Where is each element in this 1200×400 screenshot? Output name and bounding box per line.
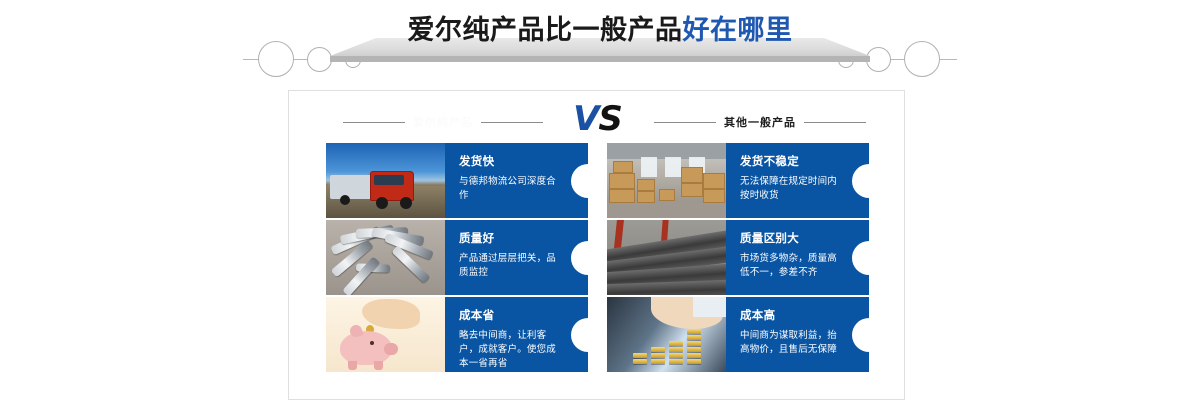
comparison-columns: 发货快 与德邦物流公司深度合作 xyxy=(289,143,906,372)
vs-letter-s: S xyxy=(598,99,622,139)
right-label-text: 其他一般产品 xyxy=(724,114,796,130)
card-title: 成本高 xyxy=(740,308,843,322)
left-label-rule-start xyxy=(343,122,405,123)
list-item[interactable]: 发货不稳定 无法保障在规定时间内按时收货 xyxy=(607,143,869,218)
title-banner-base xyxy=(330,56,870,62)
left-label-text: 爱尔纯产品 xyxy=(413,114,473,130)
card-body: 发货不稳定 无法保障在规定时间内按时收货 xyxy=(726,143,869,218)
red-truck-highway-photo xyxy=(326,143,445,218)
page-title-main: 爱尔纯产品比一般产品 xyxy=(408,15,683,46)
card-description: 无法保障在规定时间内按时收货 xyxy=(740,175,843,203)
right-label-rule-end xyxy=(804,122,866,123)
list-item[interactable]: 成本高 中间商为谋取利益，抬高物价，且售后无保障 xyxy=(607,297,869,372)
card-description: 与德邦物流公司深度合作 xyxy=(459,175,562,203)
page-header: 爱尔纯产品比一般产品好在哪里 xyxy=(0,0,1200,82)
card-title: 成本省 xyxy=(459,308,562,322)
list-item[interactable]: 成本省 略去中间商，让利客户，成就客户。使您成本一省再省 xyxy=(326,297,588,372)
card-title: 发货快 xyxy=(459,154,562,168)
card-description: 略去中间商，让利客户，成就客户。使您成本一省再省 xyxy=(459,329,562,371)
card-body: 质量区别大 市场货多物杂，质量高低不一，参差不齐 xyxy=(726,220,869,295)
vs-letter-v: V xyxy=(573,99,598,139)
card-body: 发货快 与德邦物流公司深度合作 xyxy=(445,143,588,218)
card-body: 质量好 产品通过层层把关，品质监控 xyxy=(445,220,588,295)
stacked-pipes-photo xyxy=(607,220,726,295)
page-title-accent: 好在哪里 xyxy=(683,15,793,46)
card-title: 质量好 xyxy=(459,231,562,245)
right-side-label: 其他一般产品 xyxy=(654,113,866,131)
header-circle-left-2 xyxy=(307,47,332,72)
right-column: 发货不稳定 无法保障在规定时间内按时收货 质量区别大 xyxy=(607,143,869,372)
card-body: 成本高 中间商为谋取利益，抬高物价，且售后无保障 xyxy=(726,297,869,372)
gold-coin-stacks-photo xyxy=(607,297,726,372)
card-title: 质量区别大 xyxy=(740,231,843,245)
left-label-rule-end xyxy=(481,122,543,123)
card-description: 中间商为谋取利益，抬高物价，且售后无保障 xyxy=(740,329,843,357)
list-item[interactable]: 质量区别大 市场货多物杂，质量高低不一，参差不齐 xyxy=(607,220,869,295)
list-item[interactable]: 质量好 产品通过层层把关，品质监控 xyxy=(326,220,588,295)
piggy-bank-coin-photo xyxy=(326,297,445,372)
left-column: 发货快 与德邦物流公司深度合作 xyxy=(326,143,588,372)
vs-badge: VS xyxy=(573,99,622,139)
comparison-panel: 爱尔纯产品 VS 其他一般产品 xyxy=(288,90,905,400)
card-description: 产品通过层层把关，品质监控 xyxy=(459,252,562,280)
vs-header-row: 爱尔纯产品 VS 其他一般产品 xyxy=(289,97,906,143)
card-description: 市场货多物杂，质量高低不一，参差不齐 xyxy=(740,252,843,280)
steel-tubes-photo xyxy=(326,220,445,295)
card-body: 成本省 略去中间商，让利客户，成就客户。使您成本一省再省 xyxy=(445,297,588,372)
right-label-rule-start xyxy=(654,122,716,123)
page-title: 爱尔纯产品比一般产品好在哪里 xyxy=(0,8,1200,47)
card-title: 发货不稳定 xyxy=(740,154,843,168)
list-item[interactable]: 发货快 与德邦物流公司深度合作 xyxy=(326,143,588,218)
warehouse-cartons-photo xyxy=(607,143,726,218)
left-side-label: 爱尔纯产品 xyxy=(343,113,543,131)
